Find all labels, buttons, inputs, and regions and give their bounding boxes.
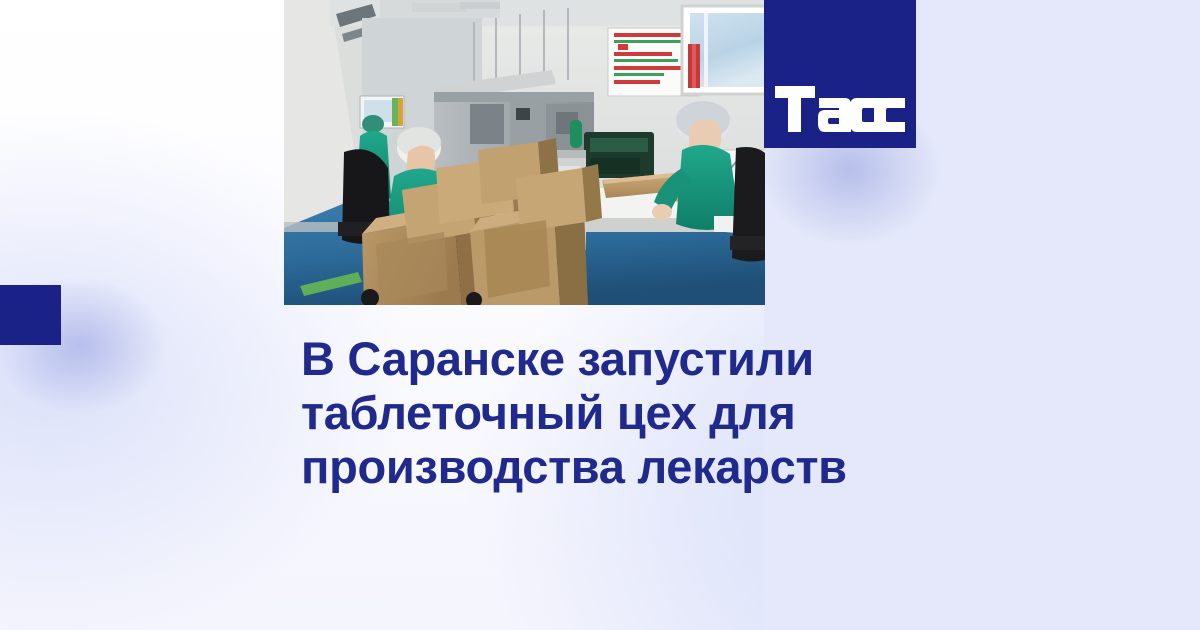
blue-accent-square (0, 285, 61, 345)
article-photo (284, 0, 765, 305)
tass-logo-mark: ТАСС (775, 86, 905, 132)
headline-line-1: В Саранске запустили (301, 332, 921, 386)
photo-illustration (284, 0, 765, 305)
headline-line-2: таблеточный цех для (301, 386, 921, 440)
headline-line-3: производства лекарств (301, 440, 921, 494)
background-left-glow (0, 250, 200, 440)
article-headline: В Саранске запустили таблеточный цех для… (301, 332, 921, 494)
tass-logo[interactable]: ТАСС (764, 0, 916, 148)
tass-wordmark-icon: ТАСС (775, 86, 905, 132)
news-share-card: ТАСС В Саранске запустили таблеточный це… (0, 0, 1200, 630)
